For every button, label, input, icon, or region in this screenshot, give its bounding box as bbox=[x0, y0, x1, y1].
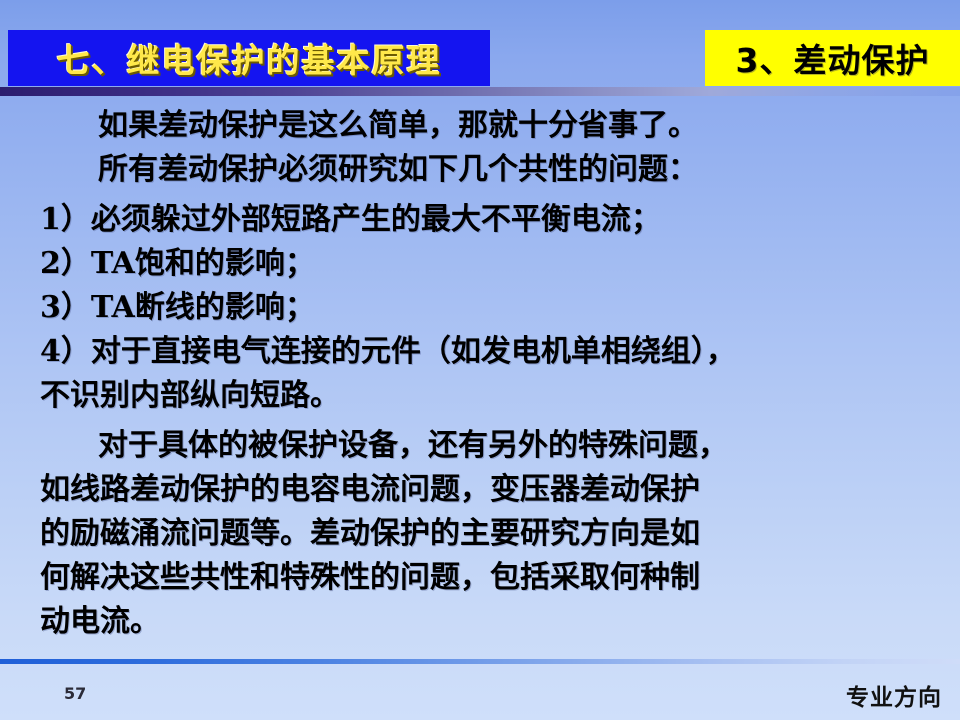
body-list-item: 3）TA断线的影响； bbox=[0, 286, 960, 330]
page-number: 57 bbox=[64, 684, 86, 703]
list-item-text: 断线的影响； bbox=[135, 290, 315, 325]
slide-body: 如果差动保护是这么简单，那就十分省事了。 所有差动保护必须研究如下几个共性的问题… bbox=[0, 104, 960, 654]
slide-header: 七、继电保护的基本原理 3、差动保护 bbox=[0, 0, 960, 96]
body-paragraph-line: 如果差动保护是这么简单，那就十分省事了。 bbox=[0, 104, 960, 148]
list-item-latin: TA bbox=[91, 246, 135, 281]
chapter-title-text: 七、继电保护的基本原理 bbox=[57, 34, 442, 82]
list-item-text: 对于直接电气连接的元件（如发电机单相绕组）， bbox=[91, 334, 736, 369]
section-title-box: 3、差动保护 bbox=[705, 30, 960, 86]
list-marker: 2） bbox=[40, 246, 91, 281]
slide-canvas: 七、继电保护的基本原理 3、差动保护 如果差动保护是这么简单，那就十分省事了。 … bbox=[0, 0, 960, 720]
body-paragraph-line: 对于具体的被保护设备，还有另外的特殊问题， bbox=[0, 424, 960, 468]
list-item-latin: TA bbox=[91, 290, 135, 325]
body-paragraph-line: 何解决这些共性和特殊性的问题，包括采取何种制 bbox=[0, 556, 960, 600]
body-paragraph-line: 的励磁涌流问题等。差动保护的主要研究方向是如 bbox=[0, 512, 960, 556]
list-item-text: 饱和的影响； bbox=[135, 246, 315, 281]
list-marker: 4） bbox=[40, 334, 91, 369]
footer-divider-line bbox=[0, 659, 960, 664]
body-list-item: 2）TA饱和的影响； bbox=[0, 242, 960, 286]
body-list-item: 1）必须躲过外部短路产生的最大不平衡电流； bbox=[0, 198, 960, 242]
body-paragraph-line: 动电流。 bbox=[0, 600, 960, 644]
header-divider-bar bbox=[0, 87, 960, 96]
body-paragraph-line: 如线路差动保护的电容电流问题，变压器差动保护 bbox=[0, 468, 960, 512]
chapter-title-box: 七、继电保护的基本原理 bbox=[8, 30, 490, 86]
list-marker: 3） bbox=[40, 290, 91, 325]
body-list-item: 4）对于直接电气连接的元件（如发电机单相绕组）， bbox=[0, 330, 960, 374]
list-marker: 1） bbox=[40, 202, 91, 237]
body-list-item-continuation: 不识别内部纵向短路。 bbox=[0, 374, 960, 418]
section-title-text: 3、差动保护 bbox=[736, 34, 930, 82]
list-item-text: 必须躲过外部短路产生的最大不平衡电流； bbox=[91, 202, 661, 237]
body-paragraph-line: 所有差动保护必须研究如下几个共性的问题： bbox=[0, 148, 960, 192]
footer-label: 专业方向 bbox=[846, 678, 942, 712]
